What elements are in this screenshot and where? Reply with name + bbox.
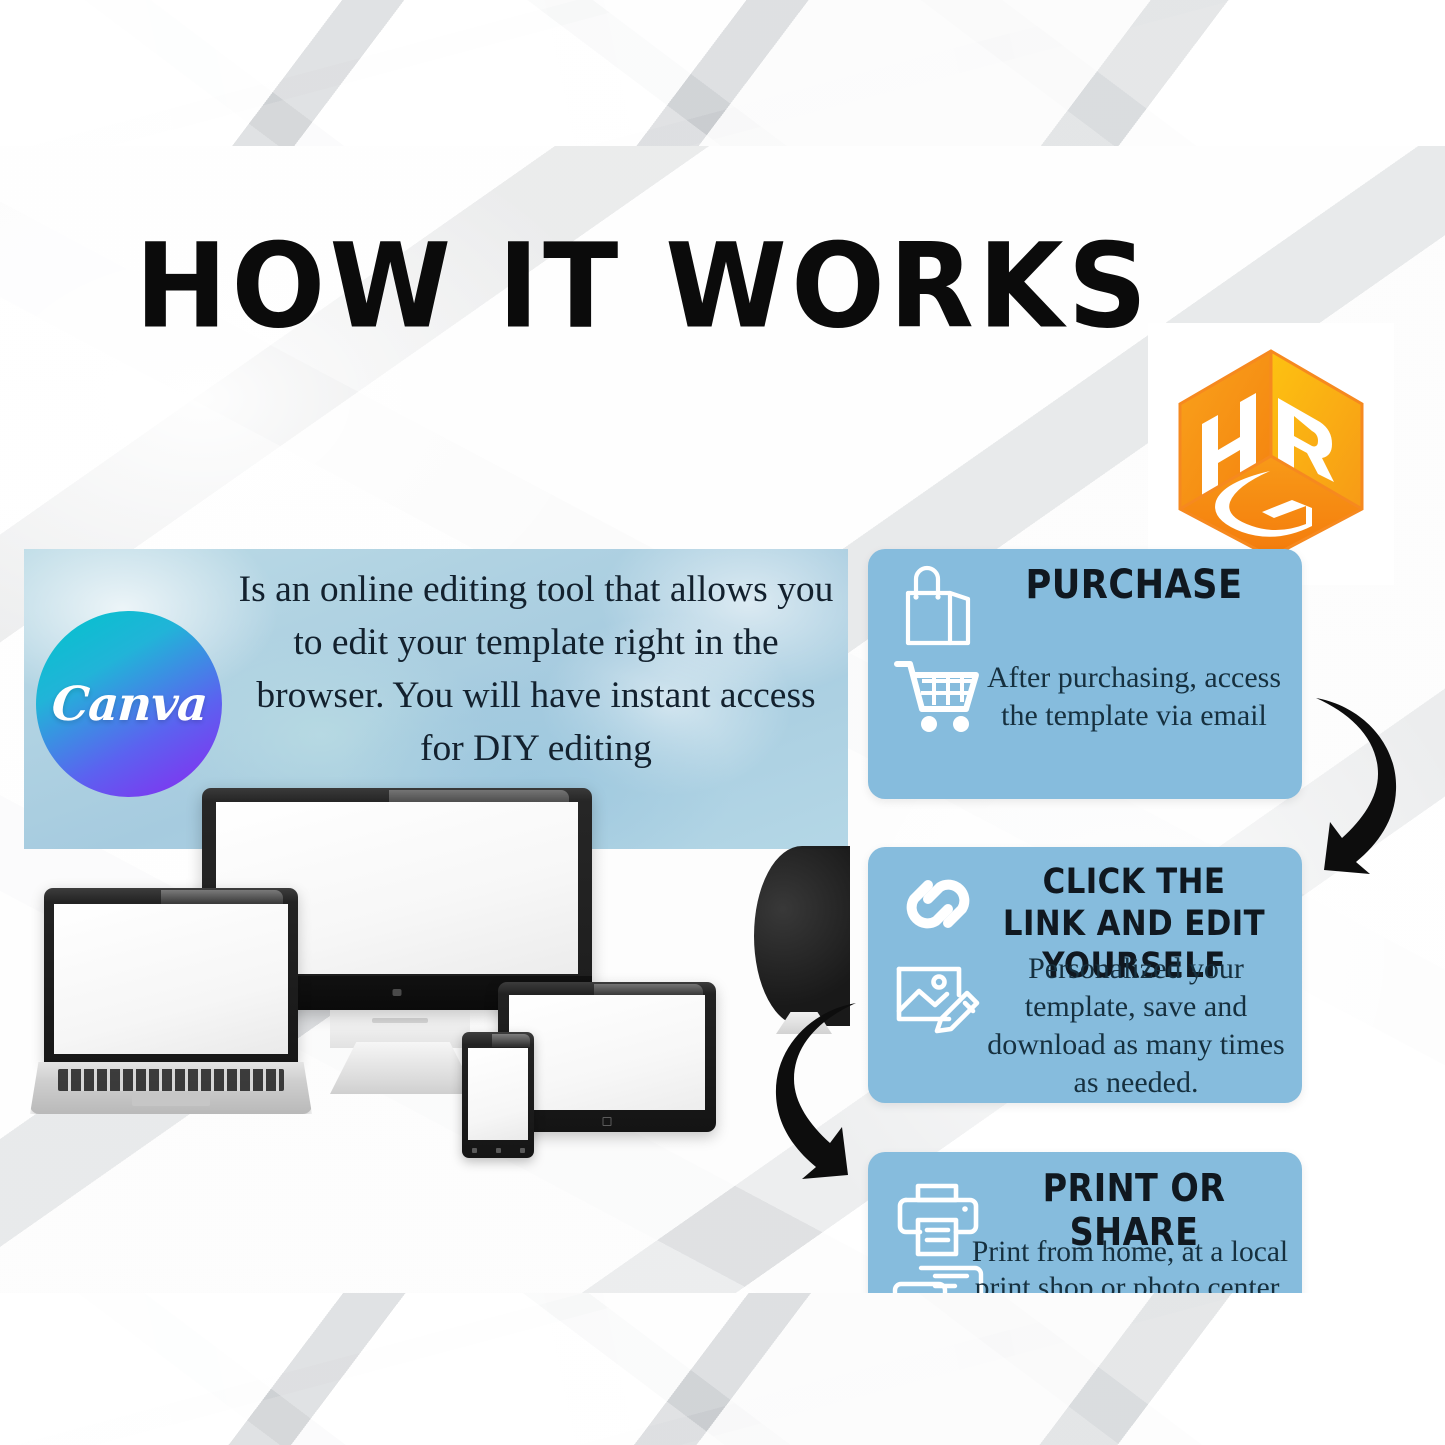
image-edit-icon <box>891 953 985 1035</box>
step-card-purchase: PURCHASE After purchasing, access the te… <box>868 549 1302 799</box>
hrg-logo <box>1148 323 1394 585</box>
chain-link-icon <box>892 863 984 947</box>
purchase-body: After purchasing, access the template vi… <box>976 659 1292 735</box>
laptop-keyboard <box>58 1069 284 1091</box>
curved-arrow-down-left-icon <box>1300 686 1420 886</box>
tablet-screen <box>509 995 705 1110</box>
edit-icons <box>882 863 994 1035</box>
smartphone <box>462 1032 534 1158</box>
canva-logo-badge: Canva <box>36 611 222 797</box>
paper-texture-bottom <box>0 1293 1445 1445</box>
infographic-canvas: HOW IT WORKS <box>0 0 1445 1445</box>
laptop-screen <box>54 904 288 1054</box>
laptop-trackpad <box>132 1095 211 1106</box>
step-card-click-link-edit: CLICK THE LINK AND EDIT YOURSELF Persona… <box>868 847 1302 1103</box>
monitor-base <box>330 1042 476 1094</box>
canva-description: Is an online editing tool that allows yo… <box>236 563 836 775</box>
content-stage: HOW IT WORKS <box>0 146 1445 1293</box>
curved-arrow-down-right-icon <box>752 991 872 1191</box>
tablet-home-button <box>603 1117 612 1126</box>
step-card-print-or-share: PRINT OR SHARE Print from home, at a loc… <box>868 1152 1302 1293</box>
phone-button-back <box>472 1148 477 1153</box>
page-title: HOW IT WORKS <box>135 218 1151 355</box>
laptop-lid <box>44 888 298 1064</box>
phone-gloss <box>492 1034 529 1047</box>
canva-wordmark: Canva <box>50 677 209 732</box>
shopping-cart-icon <box>892 655 984 733</box>
print-or-share-body: Print from home, at a local print shop o… <box>968 1234 1292 1293</box>
phone-button-menu <box>520 1148 525 1153</box>
laptop-base <box>30 1062 312 1114</box>
arrow-purchase-to-edit <box>1300 686 1420 886</box>
shopping-bag-icon <box>894 565 982 649</box>
purchase-heading: PURCHASE <box>998 563 1269 607</box>
paper-texture-top <box>0 0 1445 146</box>
device-mockup-group <box>30 776 810 1196</box>
hrg-cube-icon <box>1166 346 1376 562</box>
click-link-edit-body: Personalized your template, save and dow… <box>980 950 1292 1102</box>
phone-button-home <box>496 1148 501 1153</box>
phone-screen <box>468 1048 528 1140</box>
phone-buttons <box>462 1146 534 1154</box>
arrow-edit-to-devices <box>752 991 872 1191</box>
